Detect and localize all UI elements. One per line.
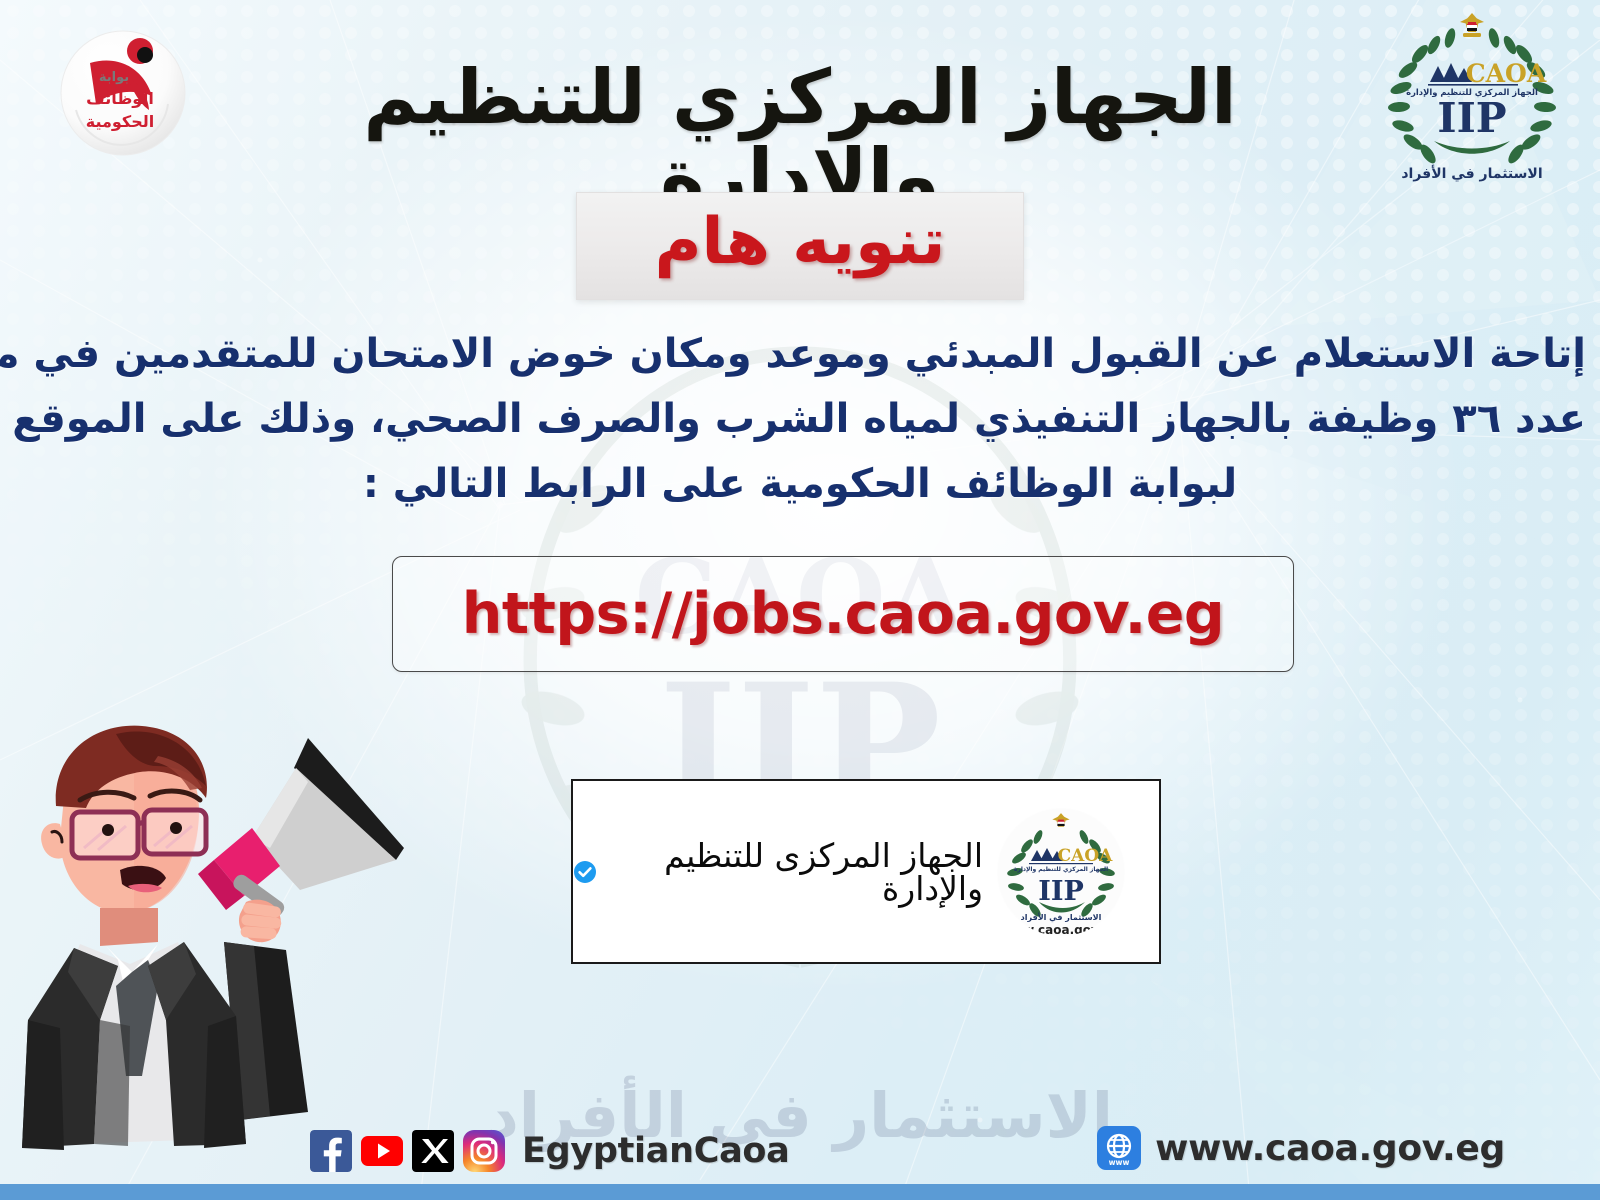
announcement-line-1: إتاحة الاستعلام عن القبول المبدئي وموعد …	[14, 322, 1586, 387]
facebook-page-card[interactable]: CAOA الجهاز المركزي للتنظيم والإدارة IIP…	[571, 779, 1161, 964]
announcement-paragraph: إتاحة الاستعلام عن القبول المبدئي وموعد …	[14, 322, 1586, 516]
verified-badge-icon	[573, 860, 597, 884]
svg-text:www: www	[1109, 1158, 1130, 1167]
bottom-accent-bar	[0, 1184, 1600, 1200]
announcement-line-3: لبوابة الوظائف الحكومية على الرابط التال…	[14, 452, 1586, 517]
facebook-page-name-row: الجهاز المركزى للتنظيم والإدارة	[573, 839, 983, 905]
social-handle: EgyptianCaoa	[522, 1131, 789, 1171]
svg-text:الاستثمار في الأفراد: الاستثمار في الأفراد	[1021, 912, 1102, 922]
footer-website-row: www www.caoa.gov.eg	[1097, 1126, 1505, 1170]
announcement-line-2: عدد ٣٦ وظيفة بالجهاز التنفيذي لمياه الشر…	[14, 387, 1586, 452]
instagram-icon[interactable]	[463, 1130, 505, 1172]
notice-badge-label: تنويه هام	[655, 207, 946, 277]
eyeglasses	[72, 810, 206, 858]
facebook-icon[interactable]	[310, 1130, 352, 1172]
jobs-portal-url[interactable]: https://jobs.caoa.gov.eg	[462, 581, 1224, 647]
facebook-page-name: الجهاز المركزى للتنظيم والإدارة	[609, 839, 983, 905]
megaphone-character-illustration	[8, 720, 428, 1200]
svg-text:IIP: IIP	[1038, 876, 1084, 907]
facebook-page-avatar-logo: CAOA الجهاز المركزي للتنظيم والإدارة IIP…	[997, 808, 1125, 936]
notice-badge: تنويه هام	[576, 192, 1025, 300]
notice-badge-container: تنويه هام	[0, 192, 1600, 300]
announcement-poster: CAOA IIP الاستثمار في الأفراد بوابة الوظ…	[0, 0, 1600, 1200]
x-twitter-icon[interactable]	[412, 1130, 454, 1172]
footer-social-row: EgyptianCaoa	[310, 1130, 789, 1172]
globe-www-icon[interactable]: www	[1097, 1126, 1141, 1170]
svg-text:الجهاز المركزي للتنظيم والإدار: الجهاز المركزي للتنظيم والإدارة	[1014, 866, 1108, 873]
svg-text:w.caoa.gov: w.caoa.gov	[1023, 923, 1099, 936]
website-url[interactable]: www.caoa.gov.eg	[1155, 1128, 1505, 1169]
youtube-icon[interactable]	[361, 1130, 403, 1172]
megaphone-icon	[198, 738, 404, 919]
url-box[interactable]: https://jobs.caoa.gov.eg	[392, 556, 1294, 672]
